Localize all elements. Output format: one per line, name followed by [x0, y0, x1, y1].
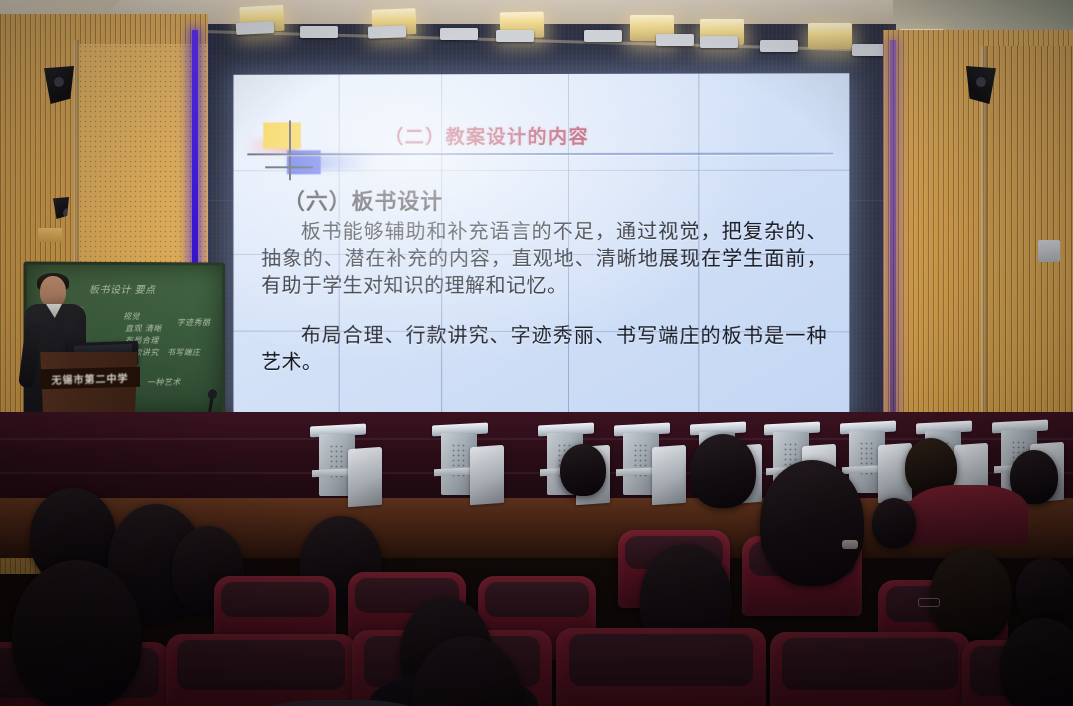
auditorium-seat[interactable]: [556, 628, 766, 706]
auditorium-seat[interactable]: [166, 634, 356, 706]
video-wall-seam-v: [698, 74, 699, 415]
video-wall-seam-v: [441, 74, 442, 414]
ceiling-light-housing: [760, 40, 798, 52]
lecture-hall-photo: （二）教案设计的内容 （六）板书设计 板书能够辅助和补充语言的不足，通过视觉，把…: [0, 0, 1073, 706]
audience-head: [690, 434, 756, 508]
audience-head: [930, 548, 1012, 644]
deco-yellow-square: [263, 122, 301, 148]
slide-title-rule: [247, 153, 833, 156]
podium-nameplate-text: 无锡市第二中学: [52, 369, 129, 386]
audience-head: [560, 444, 606, 496]
chalk-writing: 一种艺术: [147, 377, 181, 388]
slide: （二）教案设计的内容 （六）板书设计 板书能够辅助和补充语言的不足，通过视觉，把…: [233, 73, 849, 415]
audience-shoulders: [908, 485, 1028, 545]
deco-horizontal-line: [265, 166, 313, 168]
chalk-writing: 板书设计 要点: [89, 281, 156, 296]
audience-head: [872, 498, 916, 548]
slide-subheading: （六）板书设计: [283, 184, 827, 216]
podium-nameplate: 无锡市第二中学: [40, 367, 140, 390]
chalk-writing: 字迹秀丽: [177, 317, 211, 328]
audience-white-collar: [842, 540, 858, 549]
chalk-writing: 直观 清晰: [125, 323, 162, 334]
video-wall-seam-v: [339, 75, 340, 414]
slide-paragraph-1: 板书能够辅助和补充语言的不足，通过视觉，把复杂的、抽象的、潜在补充的内容，直观地…: [261, 218, 827, 299]
ceiling-light-housing: [300, 26, 338, 38]
presentation-video-wall[interactable]: （二）教案设计的内容 （六）板书设计 板书能够辅助和补充语言的不足，通过视觉，把…: [233, 73, 849, 415]
ceiling-light-housing: [700, 36, 738, 48]
ceiling-light-housing: [440, 28, 478, 40]
ceiling-light-housing: [656, 34, 694, 46]
auditorium-seat[interactable]: [770, 632, 970, 706]
chalk-writing: 视觉: [123, 311, 140, 322]
audience-glasses-icon: [918, 598, 940, 607]
ceiling-light-housing: [236, 21, 275, 35]
slide-body: （六）板书设计 板书能够辅助和补充语言的不足，通过视觉，把复杂的、抽象的、潜在补…: [261, 184, 827, 377]
chalk-writing: 书写端庄: [167, 347, 201, 358]
wall-bracket: [38, 228, 62, 242]
audience-head: [1016, 558, 1073, 624]
audience-head: [760, 460, 864, 586]
audience-head: [12, 560, 142, 706]
audience-head: [1000, 618, 1073, 706]
ceiling-light-housing: [584, 30, 622, 42]
slide-header-title: （二）教案设计的内容: [384, 122, 589, 149]
presenter-head: [40, 276, 66, 307]
wall-control-plate[interactable]: [1038, 240, 1060, 262]
led-strip-right: [890, 40, 896, 440]
video-wall-seam-v: [568, 74, 569, 414]
video-wall-seam-h: [233, 254, 849, 255]
ceiling-light-housing: [368, 25, 406, 38]
ceiling-light-housing: [496, 30, 534, 42]
ceiling-light: [808, 23, 852, 49]
audience-area: [0, 430, 1073, 706]
